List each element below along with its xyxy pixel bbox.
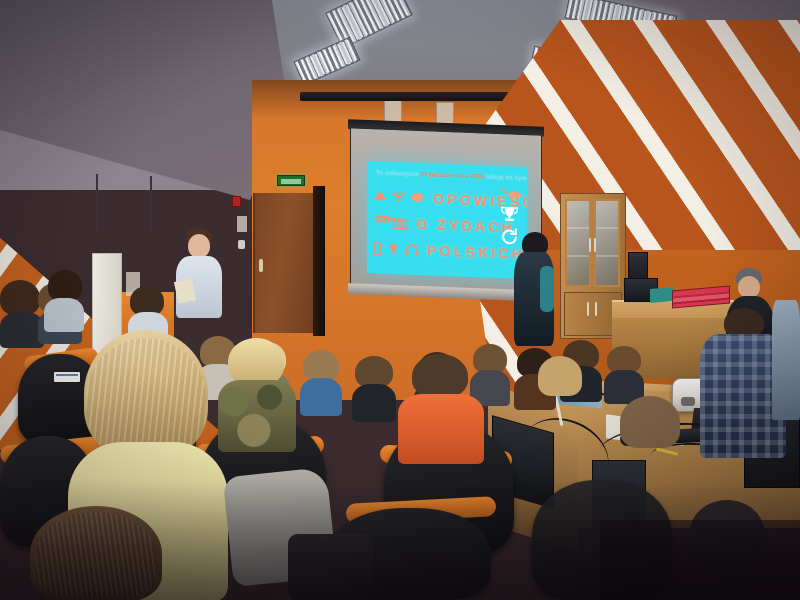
person-screen-teal-accent <box>540 266 554 312</box>
trophy-icon <box>500 205 519 223</box>
left-3-torso <box>44 298 84 332</box>
seated-child-3 <box>300 350 342 408</box>
slide-headline: Tu zobaczycie 25 października 2016 lekcj… <box>376 169 523 182</box>
smartphone-icon <box>373 242 382 255</box>
slide-headline-prefix: Tu zobaczycie <box>376 169 421 178</box>
standing-adult-far-right <box>772 300 800 420</box>
foreground-right-head <box>620 396 680 448</box>
boy-head <box>188 234 210 258</box>
child-3-torso <box>300 378 342 416</box>
standing-person-at-screen <box>512 232 556 350</box>
fg-right-hair <box>620 396 680 448</box>
cabinet-glass-door-right[interactable] <box>594 199 620 287</box>
slide-headline-date: 25 października 2016 <box>421 171 484 180</box>
foreground-boy <box>30 506 162 600</box>
fire-alarm-icon[interactable] <box>232 196 241 207</box>
camera-icon <box>393 216 408 230</box>
adult-back-head <box>738 276 760 298</box>
back-wall-plate-1 <box>384 100 402 122</box>
cabinet-shelf-2 <box>567 255 589 257</box>
fish-icon <box>371 213 395 225</box>
left-1-hair <box>0 280 40 316</box>
fg-right-3-hair <box>538 356 582 396</box>
wifi-icon <box>392 191 405 203</box>
ceiling-track <box>300 92 530 101</box>
feather-icon <box>500 186 522 201</box>
projector-lens <box>681 397 695 406</box>
seated-child-4 <box>352 356 396 414</box>
slide-headline-suffix: lekcję na żywo <box>484 173 527 182</box>
door-open-leaf <box>313 186 325 336</box>
lower-right-dark-mass <box>600 520 800 600</box>
cabinet-handle-low-left[interactable] <box>587 302 589 316</box>
seated-left-3 <box>42 270 84 326</box>
camo-child-hair <box>228 338 284 386</box>
foreground-boy-hair-texture <box>36 512 156 598</box>
classroom-photo: Tu zobaczycie 25 października 2016 lekcj… <box>0 0 800 600</box>
cabinet-handle-low-right[interactable] <box>595 302 597 316</box>
far-right-torso <box>772 300 800 420</box>
cabinet-handle-top-right[interactable] <box>594 238 596 252</box>
foreground-child-orange <box>398 354 484 458</box>
camo-child-jacket <box>218 380 296 452</box>
room-door[interactable] <box>253 193 315 333</box>
cabinet-handle-top-left[interactable] <box>589 238 591 252</box>
woman-hair-strands <box>86 338 206 458</box>
cabinet-shelf-1 <box>567 227 589 229</box>
standing-boy-presenter <box>172 228 226 340</box>
screen-stand-pole-1 <box>96 174 98 230</box>
funnel-icon <box>387 242 400 255</box>
seated-child-9 <box>604 346 644 400</box>
foreground-right-head-3 <box>538 356 582 396</box>
orange-child-hoodie <box>398 394 484 464</box>
child-4-torso <box>352 384 396 422</box>
wall-notice <box>237 216 247 232</box>
hat-icon <box>373 190 387 203</box>
back-wall-plate-2 <box>436 102 454 124</box>
presentation-slide: Tu zobaczycie 25 października 2016 lekcj… <box>367 161 527 279</box>
door-handle[interactable] <box>259 259 263 272</box>
cabinet-glass-door-left[interactable] <box>565 199 591 287</box>
speech-bubble-icon <box>410 192 425 205</box>
foreground-child-camo <box>218 338 296 448</box>
cabinet-shelf-3 <box>596 227 618 229</box>
wall-lamp-1 <box>238 240 245 249</box>
screen-stand-pole-2 <box>150 176 152 230</box>
cabinet-shelf-4 <box>596 255 618 257</box>
exit-sign-glyph <box>281 179 301 184</box>
dark-bag <box>288 534 374 600</box>
headphones-icon <box>405 243 419 256</box>
exit-sign <box>277 175 305 186</box>
orange-child-hair <box>412 354 468 398</box>
teal-box <box>650 287 674 303</box>
